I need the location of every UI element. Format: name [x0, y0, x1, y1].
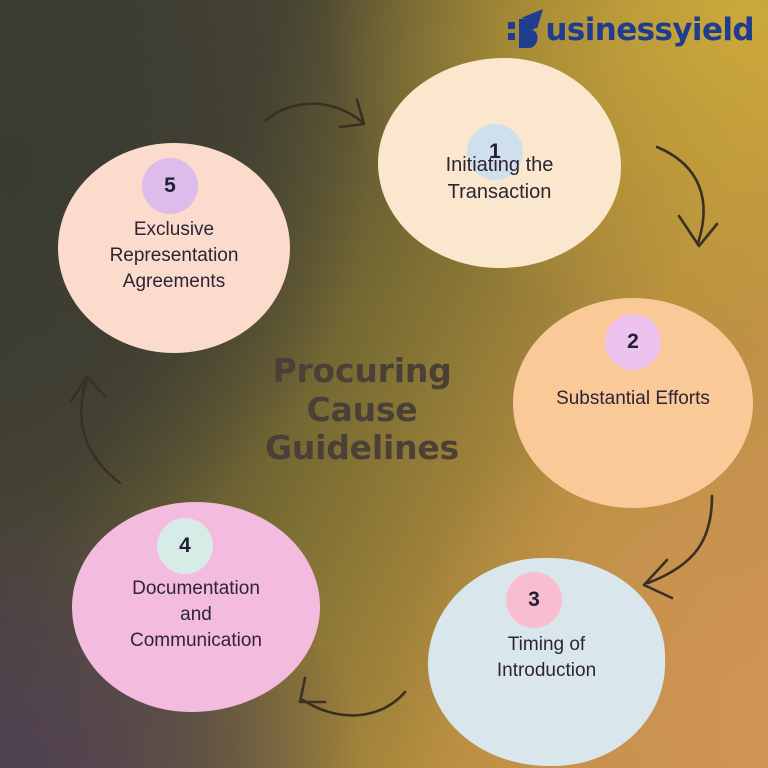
step-label-4: Documentation and Communication [72, 576, 320, 653]
arrow-step4-to-step5 [71, 377, 120, 483]
step-label-2: Substantial Efforts [513, 386, 753, 412]
arrow-step3-to-step4 [300, 678, 405, 715]
step-number-badge-3: 3 [506, 572, 562, 628]
step-label-1: Initiating the Transaction [378, 152, 621, 206]
cycle-node-3[interactable]: 3 Timing of Introduction [428, 558, 665, 766]
step-number-badge-5: 5 [142, 158, 198, 214]
arrow-up-right-icon [507, 8, 547, 52]
arrow-step2-to-step3 [644, 496, 712, 598]
infographic-canvas: usinessyield Procuring Cause Guidelines … [0, 0, 768, 768]
cycle-node-5[interactable]: 5 Exclusive Representation Agreements [58, 143, 290, 353]
brand-logo-text: usinessyield [545, 15, 754, 46]
step-number-badge-2: 2 [605, 314, 661, 370]
arrow-step1-to-step2 [657, 147, 717, 246]
cycle-node-1[interactable]: 1 Initiating the Transaction [378, 58, 621, 268]
page-title: Procuring Cause Guidelines [232, 352, 492, 468]
step-label-3: Timing of Introduction [428, 632, 665, 684]
cycle-node-2[interactable]: 2 Substantial Efforts [513, 298, 753, 508]
cycle-node-4[interactable]: 4 Documentation and Communication [72, 502, 320, 712]
step-number-badge-4: 4 [157, 518, 213, 574]
brand-logo[interactable]: usinessyield [507, 8, 754, 52]
step-label-5: Exclusive Representation Agreements [58, 217, 290, 294]
arrow-step5-to-step1 [266, 100, 364, 127]
